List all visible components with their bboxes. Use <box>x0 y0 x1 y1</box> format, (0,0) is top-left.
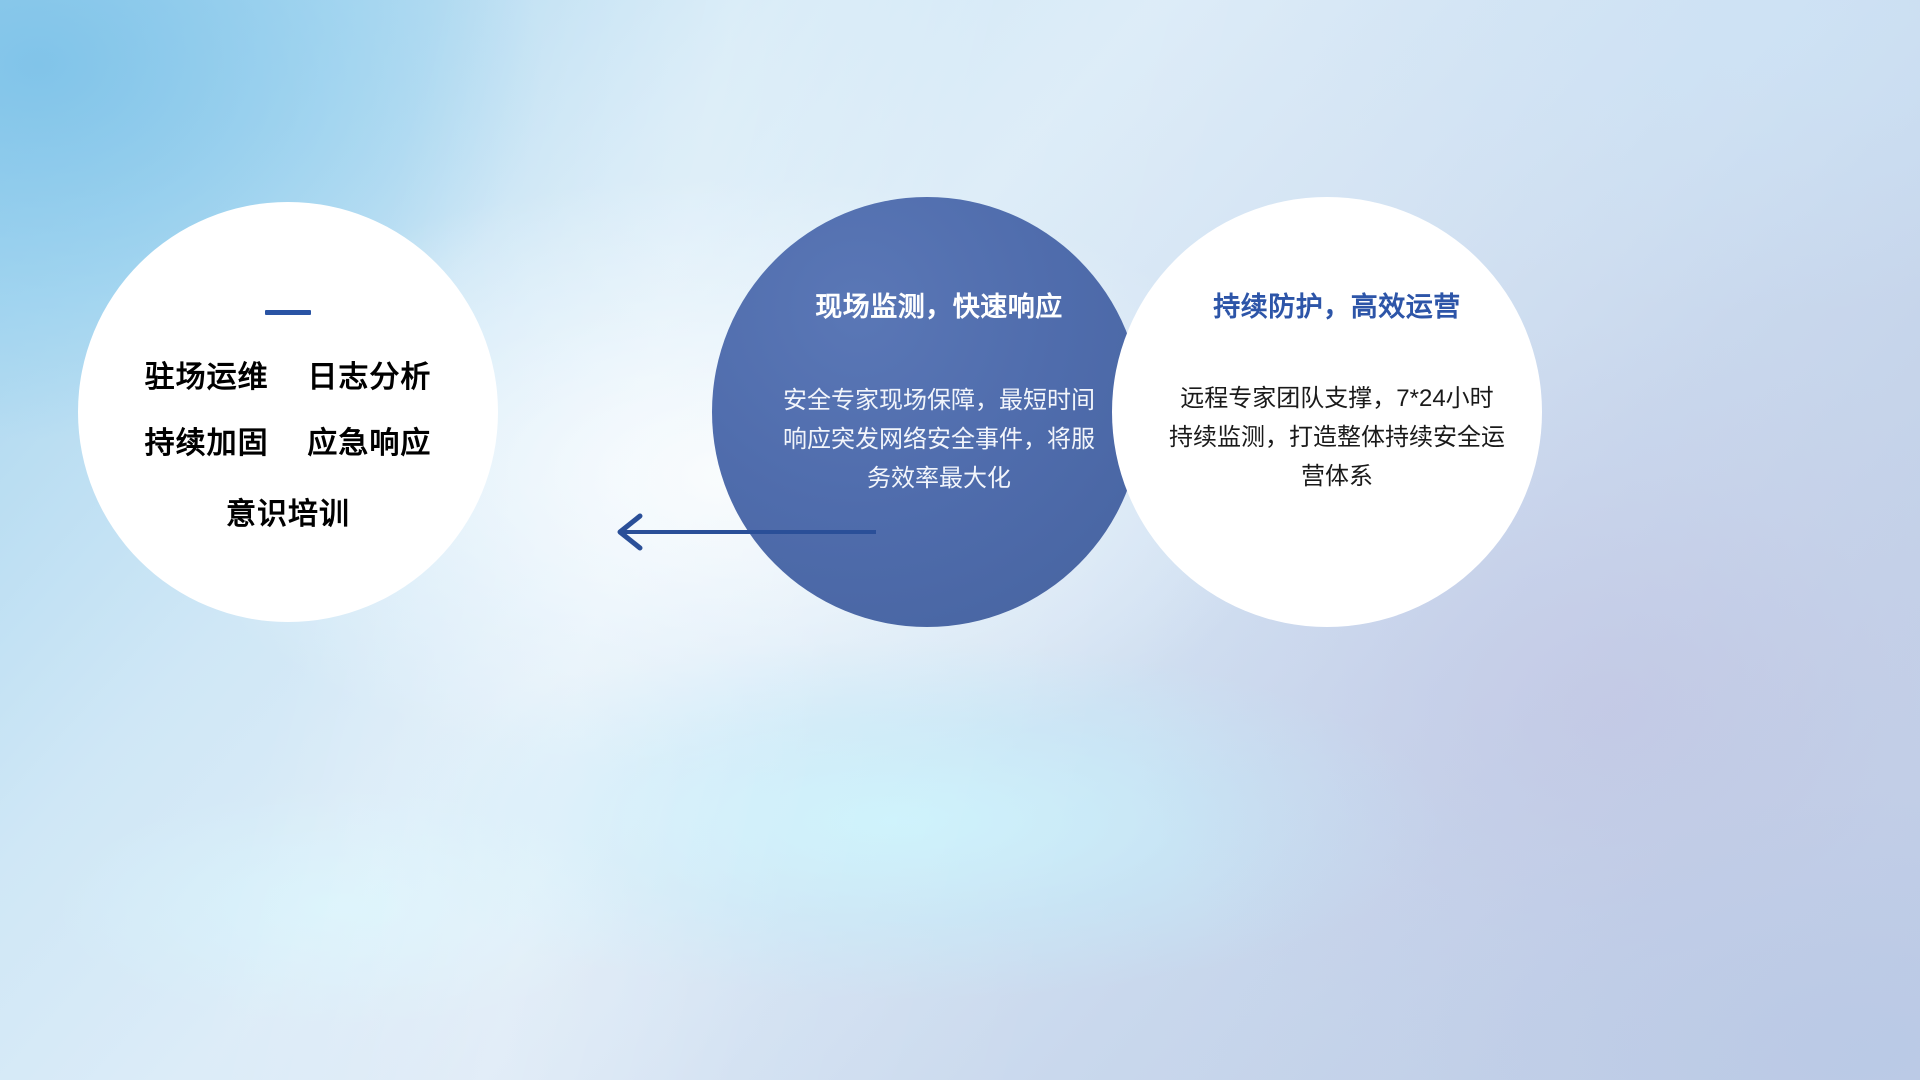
right-circle-shape <box>1112 197 1542 627</box>
arrow-left-icon <box>596 512 876 552</box>
middle-circle-shape <box>712 197 1142 627</box>
left-circle-shape <box>78 202 498 622</box>
diagram-canvas: 驻场运维 日志分析 持续加固 应急响应 意识培训 现场监测，快速响应 安全专家现… <box>0 0 1920 1080</box>
